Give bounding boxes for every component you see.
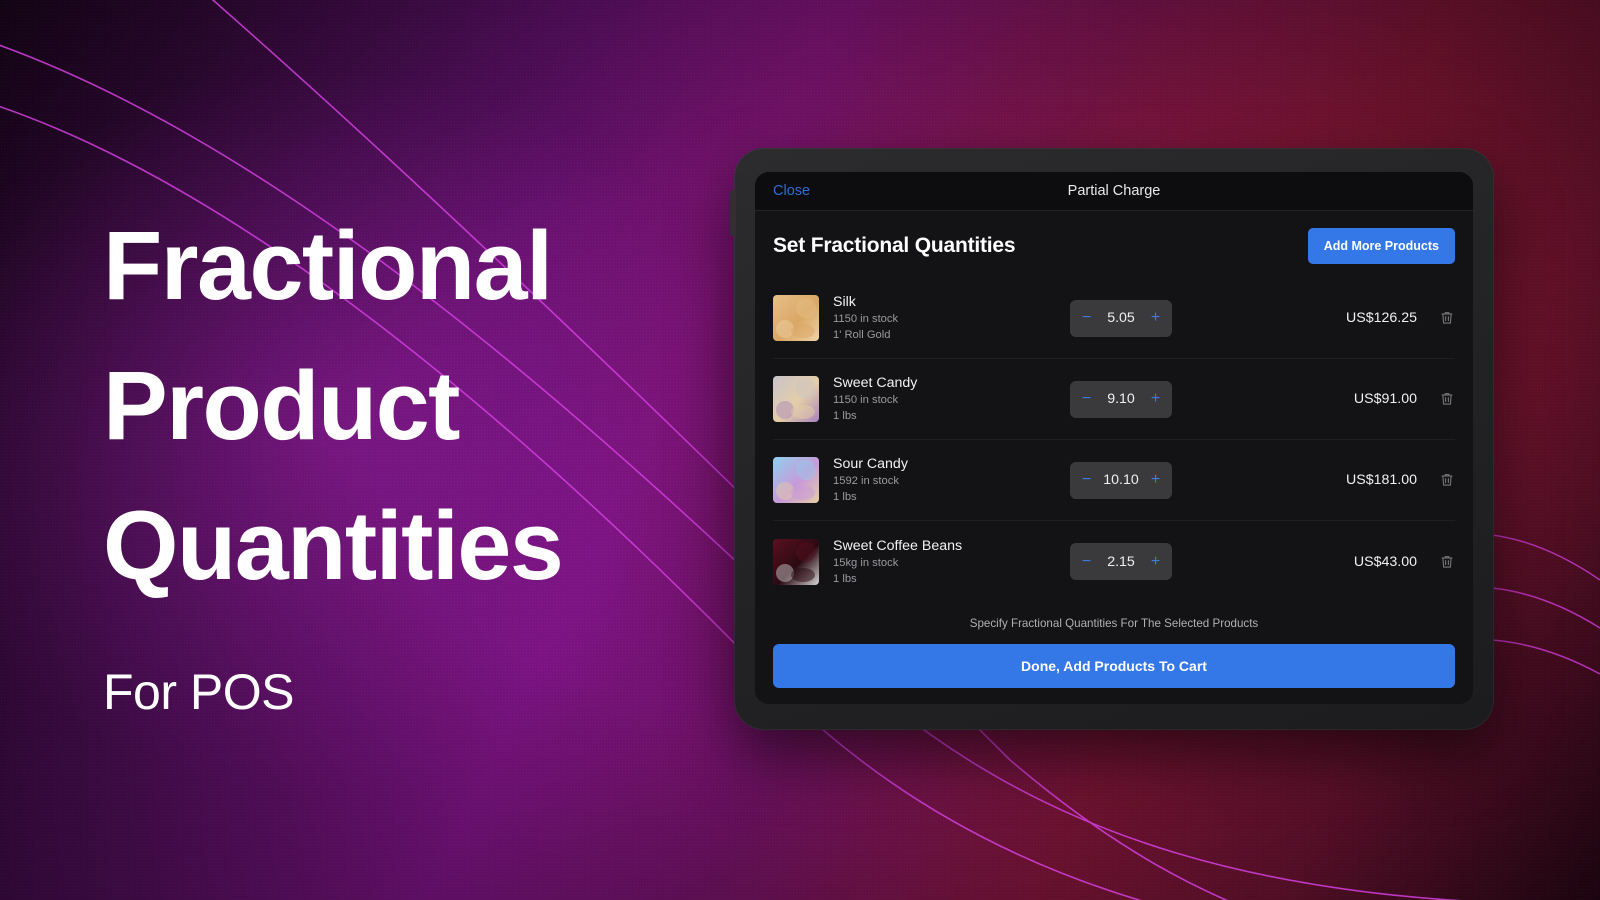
table-row: Sweet Candy 1150 in stock 1 lbs − 9.10 +… — [773, 359, 1455, 440]
table-row: Sour Candy 1592 in stock 1 lbs − 10.10 +… — [773, 440, 1455, 521]
hero-text-block: Fractional Product Quantities For POS — [103, 196, 763, 722]
decrement-button[interactable]: − — [1080, 391, 1093, 407]
product-price: US$43.00 — [1180, 554, 1439, 570]
product-unit: 1 lbs — [833, 571, 1070, 587]
product-thumbnail — [773, 539, 819, 585]
product-thumbnail — [773, 295, 819, 341]
product-thumbnail — [773, 376, 819, 422]
modal-title: Partial Charge — [755, 183, 1473, 199]
section-header: Set Fractional Quantities Add More Produ… — [755, 211, 1473, 278]
trash-icon[interactable] — [1439, 310, 1455, 326]
hero-subtitle: For POS — [103, 662, 763, 722]
product-price: US$181.00 — [1180, 472, 1439, 488]
increment-button[interactable]: + — [1149, 391, 1162, 407]
product-stock: 1150 in stock — [833, 392, 1070, 408]
product-list: Silk 1150 in stock 1' Roll Gold − 5.05 +… — [755, 278, 1473, 602]
quantity-value[interactable]: 2.15 — [1107, 554, 1135, 570]
tablet-screen: Close Partial Charge Set Fractional Quan… — [755, 172, 1473, 704]
done-add-to-cart-button[interactable]: Done, Add Products To Cart — [773, 644, 1455, 688]
decrement-button[interactable]: − — [1080, 554, 1093, 570]
page-title: Set Fractional Quantities — [773, 234, 1015, 258]
quantity-value[interactable]: 9.10 — [1107, 391, 1135, 407]
hero-line-3: Quantities — [103, 476, 763, 616]
hero-line-1: Fractional — [103, 196, 763, 336]
increment-button[interactable]: + — [1149, 554, 1162, 570]
quantity-value[interactable]: 5.05 — [1107, 310, 1135, 326]
product-thumbnail — [773, 457, 819, 503]
product-unit: 1 lbs — [833, 489, 1070, 505]
footer-hint-text: Specify Fractional Quantities For The Se… — [773, 603, 1455, 644]
device-side-button[interactable] — [730, 190, 736, 236]
modal-navbar: Close Partial Charge — [755, 172, 1473, 211]
product-price: US$126.25 — [1180, 310, 1439, 326]
product-info: Silk 1150 in stock 1' Roll Gold — [833, 293, 1070, 343]
modal-footer: Specify Fractional Quantities For The Se… — [755, 603, 1473, 704]
quantity-stepper[interactable]: − 9.10 + — [1070, 381, 1172, 418]
product-info: Sour Candy 1592 in stock 1 lbs — [833, 455, 1070, 505]
trash-icon[interactable] — [1439, 554, 1455, 570]
quantity-stepper[interactable]: − 2.15 + — [1070, 543, 1172, 580]
modal-content: Set Fractional Quantities Add More Produ… — [755, 211, 1473, 704]
tablet-device-frame: Close Partial Charge Set Fractional Quan… — [734, 148, 1494, 730]
table-row: Sweet Coffee Beans 15kg in stock 1 lbs −… — [773, 521, 1455, 602]
product-name: Silk — [833, 293, 1070, 311]
increment-button[interactable]: + — [1149, 472, 1162, 488]
decrement-button[interactable]: − — [1080, 310, 1093, 326]
product-name: Sweet Candy — [833, 374, 1070, 392]
product-stock: 1592 in stock — [833, 473, 1070, 489]
table-row: Silk 1150 in stock 1' Roll Gold − 5.05 +… — [773, 278, 1455, 359]
hero-line-2: Product — [103, 336, 763, 476]
product-name: Sour Candy — [833, 455, 1070, 473]
increment-button[interactable]: + — [1149, 310, 1162, 326]
product-unit: 1 lbs — [833, 408, 1070, 424]
product-stock: 15kg in stock — [833, 555, 1070, 571]
quantity-stepper[interactable]: − 5.05 + — [1070, 300, 1172, 337]
product-stock: 1150 in stock — [833, 311, 1070, 327]
quantity-stepper[interactable]: − 10.10 + — [1070, 462, 1172, 499]
decrement-button[interactable]: − — [1080, 472, 1093, 488]
quantity-value[interactable]: 10.10 — [1103, 472, 1139, 488]
product-name: Sweet Coffee Beans — [833, 537, 1070, 555]
product-info: Sweet Coffee Beans 15kg in stock 1 lbs — [833, 537, 1070, 587]
product-unit: 1' Roll Gold — [833, 327, 1070, 343]
add-more-products-button[interactable]: Add More Products — [1308, 228, 1455, 264]
trash-icon[interactable] — [1439, 391, 1455, 407]
product-price: US$91.00 — [1180, 391, 1439, 407]
product-info: Sweet Candy 1150 in stock 1 lbs — [833, 374, 1070, 424]
trash-icon[interactable] — [1439, 472, 1455, 488]
